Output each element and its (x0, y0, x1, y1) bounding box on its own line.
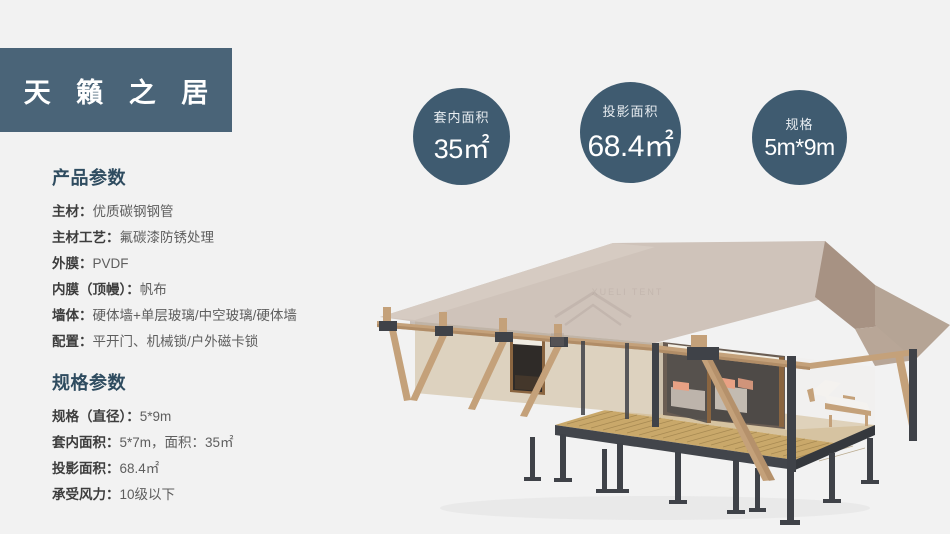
badge-value: 35㎡ (434, 127, 490, 166)
specification-panel: 产品参数 主材：优质碳钢钢管 主材工艺：氟碳漆防锈处理 外膜：PVDF 内膜（顶… (52, 164, 382, 522)
badge-projected-area: 投影面积 68.4㎡ (580, 82, 681, 183)
spec-row: 规格（直径）：5*9m (52, 404, 382, 430)
badge-dimensions: 规格 5m*9m (752, 90, 847, 185)
spec-label: 主材工艺： (52, 230, 120, 245)
spec-value: 5*9m (140, 409, 172, 424)
spec-row: 投影面积：68.4㎡ (52, 456, 382, 482)
spec-label: 墙体： (52, 308, 93, 323)
spec-row: 内膜（顶幔）：帆布 (52, 277, 382, 303)
section-heading-product: 产品参数 (52, 164, 382, 190)
spec-value: 氟碳漆防锈处理 (120, 230, 215, 245)
spec-row: 承受风力：10级以下 (52, 482, 382, 508)
spec-row: 主材工艺：氟碳漆防锈处理 (52, 225, 382, 251)
title-banner: 天 籟 之 居 (0, 48, 232, 132)
section-heading-dimensions: 规格参数 (52, 369, 382, 395)
spec-value: 硬体墙+单层玻璃/中空玻璃/硬体墙 (93, 308, 297, 323)
tent-house-illustration (355, 225, 950, 534)
ground-shadow (440, 496, 870, 520)
spec-row: 配置：平开门、机械锁/户外磁卡锁 (52, 329, 382, 355)
spec-value: 优质碳钢钢管 (93, 204, 174, 219)
spec-label: 配置： (52, 334, 93, 349)
spec-label: 内膜（顶幔）： (52, 282, 140, 297)
product-parameters-section: 产品参数 主材：优质碳钢钢管 主材工艺：氟碳漆防锈处理 外膜：PVDF 内膜（顶… (52, 164, 382, 355)
spec-label: 外膜： (52, 256, 93, 271)
badge-label: 规格 (785, 114, 813, 133)
spec-label: 主材： (52, 204, 93, 219)
spec-row: 墙体：硬体墙+单层玻璃/中空玻璃/硬体墙 (52, 303, 382, 329)
spec-value: PVDF (93, 256, 129, 271)
spec-label: 投影面积： (52, 461, 120, 476)
spec-label: 规格（直径）： (52, 409, 140, 424)
badge-label: 投影面积 (602, 101, 658, 120)
spec-value: 10级以下 (120, 487, 176, 502)
spec-value: 平开门、机械锁/户外磁卡锁 (93, 334, 259, 349)
tent-house-render: XUELI TENT (355, 225, 950, 534)
spec-row: 套内面积：5*7m，面积：35㎡ (52, 430, 382, 456)
spec-value: 5*7m，面积：35㎡ (120, 435, 234, 450)
spec-row: 主材：优质碳钢钢管 (52, 199, 382, 225)
spec-value: 68.4㎡ (120, 461, 160, 476)
badge-label: 套内面积 (433, 107, 489, 126)
badge-value: 5m*9m (764, 134, 834, 161)
spec-label: 承受风力： (52, 487, 120, 502)
spec-row: 外膜：PVDF (52, 251, 382, 277)
spec-label: 套内面积： (52, 435, 120, 450)
spec-value: 帆布 (140, 282, 167, 297)
page-title: 天 籟 之 居 (15, 71, 218, 110)
badge-interior-area: 套内面积 35㎡ (413, 88, 510, 185)
dimension-parameters-section: 规格参数 规格（直径）：5*9m 套内面积：5*7m，面积：35㎡ 投影面积：6… (52, 369, 382, 508)
badge-value: 68.4㎡ (588, 121, 674, 165)
